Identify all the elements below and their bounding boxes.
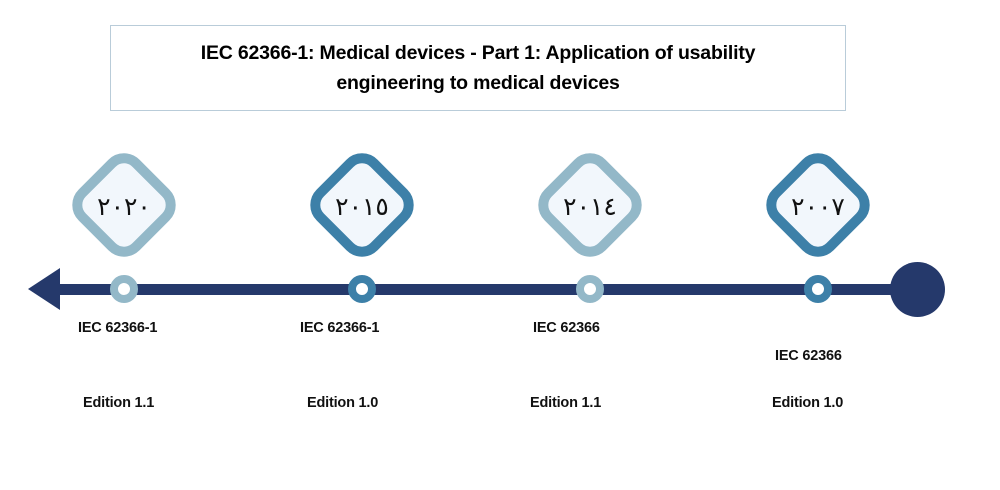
milestone-standard-2007: IEC 62366 [775,348,995,364]
milestone-standard-2014: IEC 62366 [533,320,753,336]
milestone-year-2014: ٢٠١٤ [530,192,650,221]
milestone-edition-2014: Edition 1.1 [530,395,750,411]
milestone-marker-2015[interactable] [348,275,376,303]
left-arrow-icon [28,268,60,310]
milestone-year-2007: ٢٠٠٧ [758,192,878,221]
milestone-standard-2020: IEC 62366-1 [78,320,298,336]
milestone-edition-2020: Edition 1.1 [83,395,303,411]
milestone-standard-2015: IEC 62366-1 [300,320,520,336]
title-box: IEC 62366-1: Medical devices - Part 1: A… [110,25,846,111]
milestone-marker-2014[interactable] [576,275,604,303]
timeline-axis [52,284,912,295]
page-title: IEC 62366-1: Medical devices - Part 1: A… [134,38,822,98]
milestone-year-2020: ٢٠٢٠ [64,192,184,221]
milestone-edition-2015: Edition 1.0 [307,395,527,411]
milestone-marker-2020[interactable] [110,275,138,303]
milestone-edition-2007: Edition 1.0 [772,395,992,411]
milestone-marker-2007[interactable] [804,275,832,303]
milestone-year-2015: ٢٠١٥ [302,192,422,221]
timeline-diagram: IEC 62366-1: Medical devices - Part 1: A… [0,0,1000,490]
filled-circle-icon [890,262,945,317]
